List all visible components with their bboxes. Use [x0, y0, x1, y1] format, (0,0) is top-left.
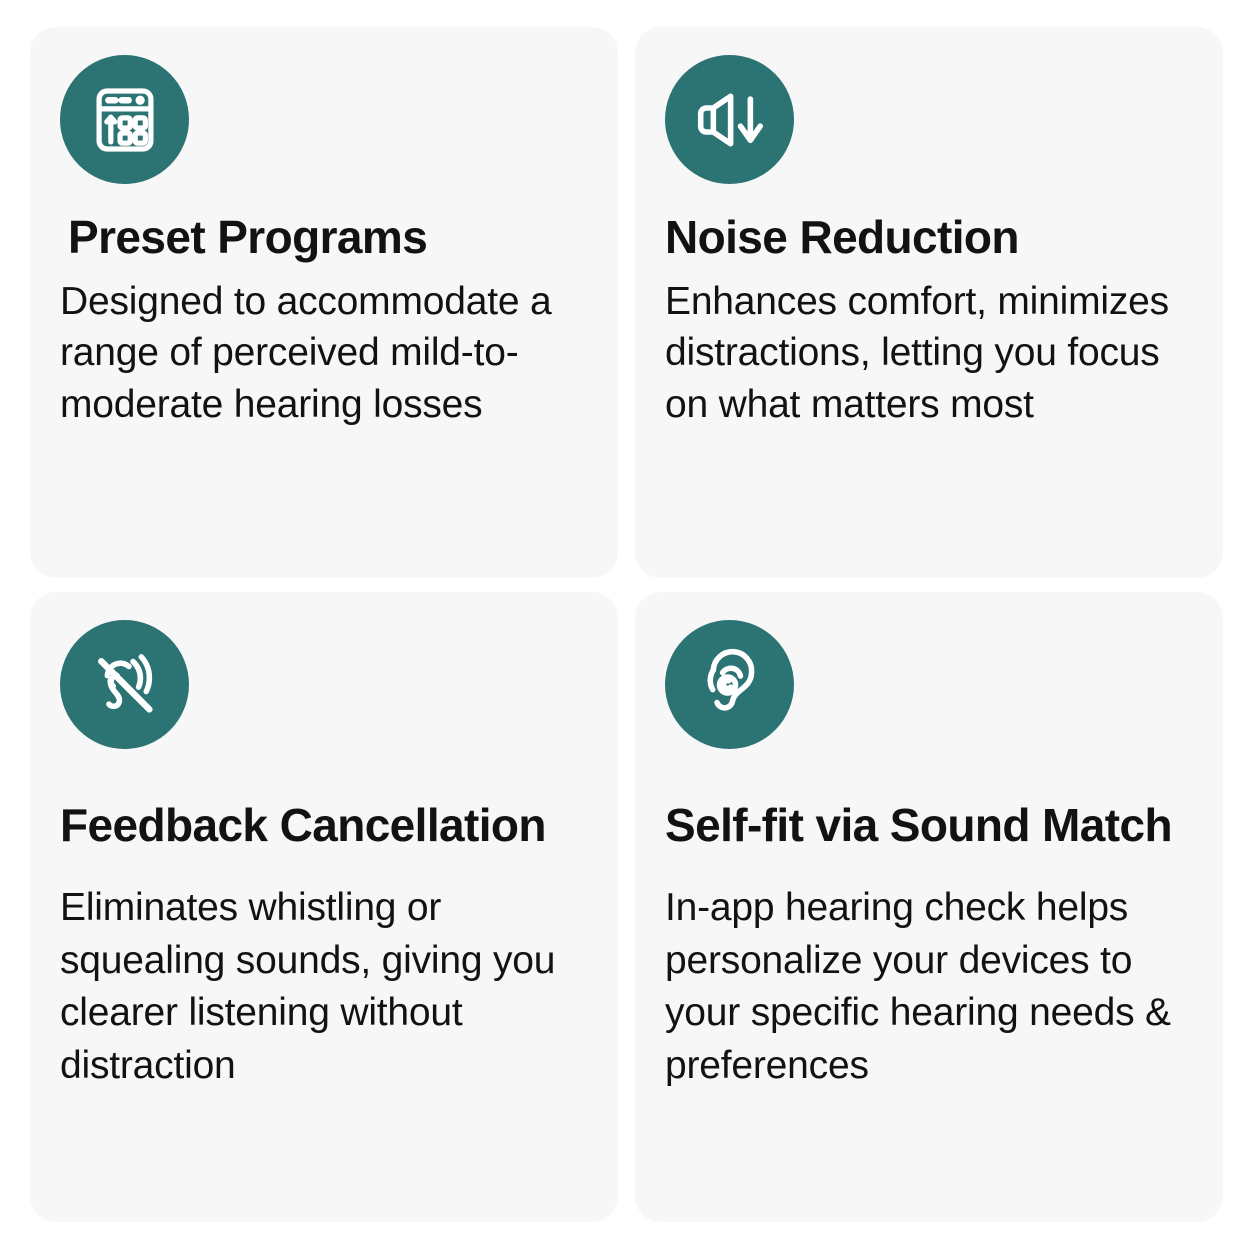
- feature-card-feedback-cancellation: Feedback Cancellation Eliminates whistli…: [30, 592, 618, 1222]
- speaker-volume-down-icon: [665, 55, 794, 184]
- card-title: Preset Programs: [68, 214, 588, 260]
- equalizer-panel-icon: [60, 55, 189, 184]
- card-description: In-app hearing check helps personalize y…: [665, 882, 1193, 1093]
- feature-card-grid: Preset Programs Designed to accommodate …: [0, 0, 1250, 1250]
- feature-card-noise-reduction: Noise Reduction Enhances comfort, minimi…: [635, 27, 1223, 578]
- feature-card-preset-programs: Preset Programs Designed to accommodate …: [30, 27, 618, 578]
- feature-card-self-fit-sound-match: Self-fit via Sound Match In-app hearing …: [635, 592, 1223, 1222]
- ear-icon: [665, 620, 794, 749]
- card-description: Designed to accommodate a range of perce…: [60, 276, 588, 430]
- card-title: Feedback Cancellation: [60, 791, 588, 860]
- card-description: Enhances comfort, minimizes distractions…: [665, 276, 1193, 430]
- card-title: Noise Reduction: [665, 214, 1193, 260]
- card-description: Eliminates whistling or squealing sounds…: [60, 882, 588, 1093]
- ear-sound-waves-crossed-out-icon: [60, 620, 189, 749]
- card-title: Self-fit via Sound Match: [665, 791, 1193, 860]
